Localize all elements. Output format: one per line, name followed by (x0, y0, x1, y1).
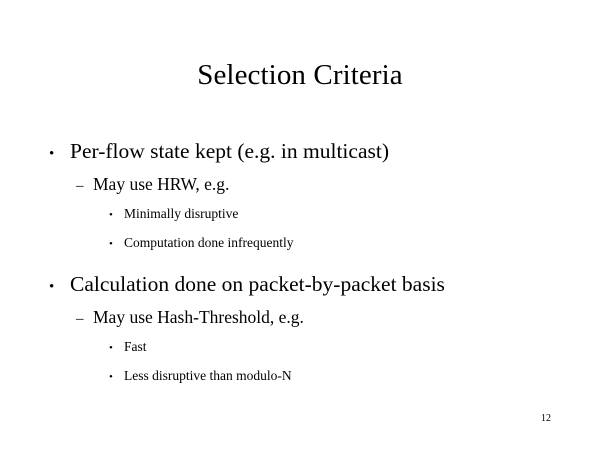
list-item: – May use Hash-Threshold, e.g. (0, 303, 600, 332)
bullet-point-icon: • (109, 230, 124, 259)
slide-number: 12 (541, 412, 551, 425)
bullet-point-icon: • (49, 135, 70, 173)
list-item-label: Fast (124, 332, 147, 361)
list-item: • Minimally disruptive (0, 199, 600, 228)
list-item: • Calculation done on packet-by-packet b… (0, 265, 600, 303)
list-item-label: May use Hash-Threshold, e.g. (93, 303, 304, 332)
bullet-point-icon: • (109, 363, 124, 392)
slide-body-content: • Per-flow state kept (e.g. in multicast… (0, 132, 600, 390)
bullet-point-icon: • (109, 201, 124, 230)
list-item-label: Less disruptive than modulo-N (124, 361, 292, 390)
dash-bullet-icon: – (76, 172, 93, 201)
list-item: • Fast (0, 332, 600, 361)
list-item-label: Calculation done on packet-by-packet bas… (70, 265, 445, 303)
section-spacer (0, 257, 600, 265)
presentation-slide: Selection Criteria • Per-flow state kept… (0, 0, 600, 450)
bullet-point-icon: • (109, 334, 124, 363)
dash-bullet-icon: – (76, 305, 93, 334)
list-item: • Computation done infrequently (0, 228, 600, 257)
bullet-point-icon: • (49, 268, 70, 306)
page-title: Selection Criteria (0, 58, 600, 92)
list-item-label: Computation done infrequently (124, 228, 293, 257)
list-item-label: Per-flow state kept (e.g. in multicast) (70, 132, 389, 170)
list-item: • Per-flow state kept (e.g. in multicast… (0, 132, 600, 170)
list-item: – May use HRW, e.g. (0, 170, 600, 199)
list-item-label: Minimally disruptive (124, 199, 238, 228)
list-item-label: May use HRW, e.g. (93, 170, 229, 199)
list-item: • Less disruptive than modulo-N (0, 361, 600, 390)
